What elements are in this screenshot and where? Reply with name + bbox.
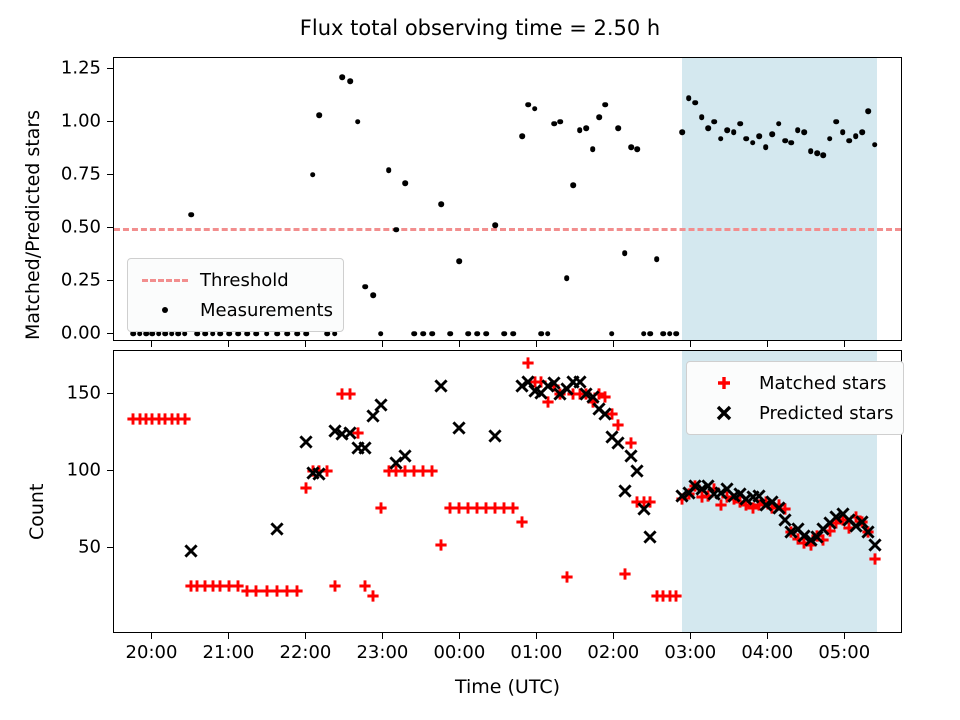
bottom-panel-ytick-label: 100: [67, 459, 101, 480]
top-panel-shaded-region: [682, 58, 877, 340]
measurement-point: [316, 112, 322, 118]
xtick-label: 04:00: [741, 642, 793, 663]
measurement-point: [647, 331, 653, 337]
measurement-point: [596, 115, 602, 121]
legend-item-measurements: Measurements: [136, 295, 333, 325]
measurement-point: [456, 259, 462, 265]
matched-star-marker: [373, 500, 389, 516]
measurement-point: [724, 127, 730, 133]
measurement-point: [310, 172, 316, 178]
xtick-mark: [767, 341, 768, 347]
predicted-star-marker: [298, 434, 314, 450]
xtick-label: 05:00: [818, 642, 870, 663]
measurement-point: [378, 331, 384, 337]
predicted-star-marker: [397, 448, 413, 464]
predicted-star-marker: [357, 440, 373, 456]
xtick-mark: [844, 341, 845, 347]
bottom-panel-ytick-label: 50: [78, 536, 101, 557]
measurement-point: [622, 250, 628, 256]
top-panel-ytick-label: 1.25: [61, 57, 101, 78]
predicted-star-marker: [636, 501, 652, 517]
matched-star-marker: [298, 480, 314, 496]
measurement-point: [386, 168, 392, 174]
measurement-point: [429, 331, 435, 337]
measurement-point: [866, 108, 872, 114]
measurement-point: [776, 121, 782, 127]
measurement-point: [570, 182, 576, 188]
measurement-point: [603, 102, 609, 108]
xtick-label: 02:00: [587, 642, 639, 663]
measurement-point: [763, 144, 769, 150]
matched-star-marker: [365, 588, 381, 604]
matched-star-marker: [433, 537, 449, 553]
measurement-point: [447, 331, 453, 337]
measurement-point: [363, 284, 369, 290]
predicted-star-marker: [433, 378, 449, 394]
legend-item-predicted-stars: Predicted stars: [695, 398, 893, 428]
measurement-point: [538, 331, 544, 337]
xtick-mark: [305, 633, 306, 639]
bottom-panel-ytick-label: 150: [67, 383, 101, 404]
measurement-point: [686, 95, 692, 101]
xtick-mark: [536, 633, 537, 639]
predicted-star-marker: [373, 397, 389, 413]
measurement-point: [526, 102, 532, 108]
measurement-point: [558, 119, 564, 125]
measurement-point: [577, 127, 583, 133]
xtick-mark: [613, 341, 614, 347]
measurement-point: [680, 129, 686, 135]
xtick-mark: [767, 633, 768, 639]
measurement-point: [340, 74, 346, 80]
matched-star-marker: [177, 411, 193, 427]
matched-star-marker: [424, 463, 440, 479]
measurement-point: [411, 331, 417, 337]
matched-star-marker: [289, 583, 305, 599]
predicted-star-marker: [451, 420, 467, 436]
predicted-star-marker: [642, 529, 658, 545]
measurement-point: [821, 153, 827, 159]
measurement-point: [474, 331, 480, 337]
measurement-point: [583, 125, 589, 131]
top-panel-ytick-label: 0.50: [61, 216, 101, 237]
predicted-star-marker: [311, 466, 327, 482]
measurement-point: [737, 121, 743, 127]
measurement-point: [782, 138, 788, 144]
top-panel-ytick-label: 1.00: [61, 110, 101, 131]
measurement-point: [705, 125, 711, 131]
predicted-star-marker: [269, 521, 285, 537]
xtick-label: 20:00: [126, 642, 178, 663]
matched-star-marker: [514, 514, 530, 530]
measurement-point: [545, 331, 551, 337]
measurement-point: [615, 125, 621, 131]
cross-marker-icon: [695, 403, 753, 423]
xtick-label: 21:00: [203, 642, 255, 663]
measurement-point: [370, 293, 376, 299]
measurement-point: [673, 331, 679, 337]
measurement-point: [551, 121, 557, 127]
measurement-point: [853, 134, 859, 140]
xtick-mark: [151, 341, 152, 347]
measurement-point: [438, 201, 444, 207]
measurement-point: [660, 331, 666, 337]
top-panel-ylabel: Matched/Predicted stars: [22, 110, 44, 340]
measurement-point: [667, 331, 673, 337]
top-panel-ytick-label: 0.00: [61, 322, 101, 343]
measurement-point: [712, 119, 718, 125]
xtick-mark: [844, 633, 845, 639]
measurement-point: [501, 331, 507, 337]
legend-label-matched-stars: Matched stars: [753, 373, 886, 394]
threshold-line: [114, 228, 901, 231]
matched-star-marker: [559, 569, 575, 585]
measurement-point: [347, 79, 353, 85]
measurement-point: [609, 331, 615, 337]
bottom-panel-legend: Matched stars Predicted stars: [686, 361, 904, 435]
measurement-point: [769, 132, 775, 138]
measurement-point: [564, 276, 570, 282]
xtick-mark: [690, 341, 691, 347]
xtick-label: 00:00: [433, 642, 485, 663]
measurement-point: [757, 134, 763, 140]
measurement-point: [872, 142, 878, 148]
measurement-point: [420, 331, 426, 337]
measurement-point: [188, 212, 194, 218]
xtick-mark: [536, 341, 537, 347]
xtick-label: 23:00: [356, 642, 408, 663]
predicted-star-marker: [183, 543, 199, 559]
xtick-mark: [305, 341, 306, 347]
dot-marker-icon: [136, 307, 194, 313]
measurement-point: [846, 138, 852, 144]
measurement-point: [840, 129, 846, 135]
measurement-point: [465, 331, 471, 337]
xtick-label: 22:00: [280, 642, 332, 663]
measurement-point: [833, 119, 839, 125]
measurement-point: [692, 100, 698, 106]
xtick-mark: [613, 633, 614, 639]
measurement-point: [699, 115, 705, 121]
predicted-star-marker: [597, 406, 613, 422]
xtick-label: 03:00: [664, 642, 716, 663]
top-panel-legend: Threshold Measurements: [127, 258, 344, 332]
measurement-point: [814, 151, 820, 157]
matched-star-marker: [520, 355, 536, 371]
measurement-point: [532, 106, 538, 112]
plus-marker-icon: [695, 373, 753, 393]
xtick-mark: [690, 633, 691, 639]
measurement-point: [492, 223, 498, 229]
measurement-point: [744, 136, 750, 142]
top-panel-ytick-label: 0.25: [61, 269, 101, 290]
measurement-point: [628, 144, 634, 150]
dashed-line-icon: [136, 279, 194, 282]
xtick-mark: [228, 633, 229, 639]
measurement-point: [355, 119, 361, 125]
measurement-point: [654, 257, 660, 263]
predicted-star-marker: [617, 483, 633, 499]
xtick-mark: [459, 633, 460, 639]
measurement-point: [795, 127, 801, 133]
measurement-point: [402, 180, 408, 186]
measurement-point: [801, 129, 807, 135]
bottom-panel-ylabel: Count: [26, 484, 48, 540]
predicted-star-marker: [629, 463, 645, 479]
matched-star-marker: [327, 578, 343, 594]
measurement-point: [483, 331, 489, 337]
figure-canvas: Flux total observing time = 2.50 h Match…: [0, 0, 960, 720]
measurement-point: [641, 331, 647, 337]
measurement-point: [859, 129, 865, 135]
measurement-point: [731, 129, 737, 135]
legend-item-threshold: Threshold: [136, 265, 333, 295]
measurement-point: [510, 331, 516, 337]
measurement-point: [635, 146, 641, 152]
xtick-mark: [228, 341, 229, 347]
xaxis-label: Time (UTC): [113, 676, 902, 698]
predicted-star-marker: [867, 537, 883, 553]
predicted-star-marker: [487, 428, 503, 444]
matched-star-marker: [668, 588, 684, 604]
predicted-star-marker: [342, 425, 358, 441]
legend-label-predicted-stars: Predicted stars: [753, 403, 893, 424]
measurement-point: [393, 227, 399, 233]
matched-star-marker: [867, 551, 883, 567]
measurement-point: [519, 134, 525, 140]
figure-title: Flux total observing time = 2.50 h: [0, 16, 960, 40]
predicted-star-marker: [623, 448, 639, 464]
xtick-mark: [382, 633, 383, 639]
measurement-point: [750, 140, 756, 146]
xtick-label: 01:00: [510, 642, 562, 663]
measurement-point: [827, 136, 833, 142]
legend-item-matched-stars: Matched stars: [695, 368, 893, 398]
legend-label-measurements: Measurements: [194, 300, 333, 321]
xtick-mark: [151, 633, 152, 639]
xtick-mark: [382, 341, 383, 347]
measurement-point: [718, 136, 724, 142]
legend-label-threshold: Threshold: [194, 270, 289, 291]
top-panel-ytick-label: 0.75: [61, 163, 101, 184]
measurement-point: [808, 148, 814, 154]
matched-star-marker: [342, 386, 358, 402]
measurement-point: [590, 146, 596, 152]
xtick-mark: [459, 341, 460, 347]
measurement-point: [789, 140, 795, 146]
matched-star-marker: [617, 566, 633, 582]
